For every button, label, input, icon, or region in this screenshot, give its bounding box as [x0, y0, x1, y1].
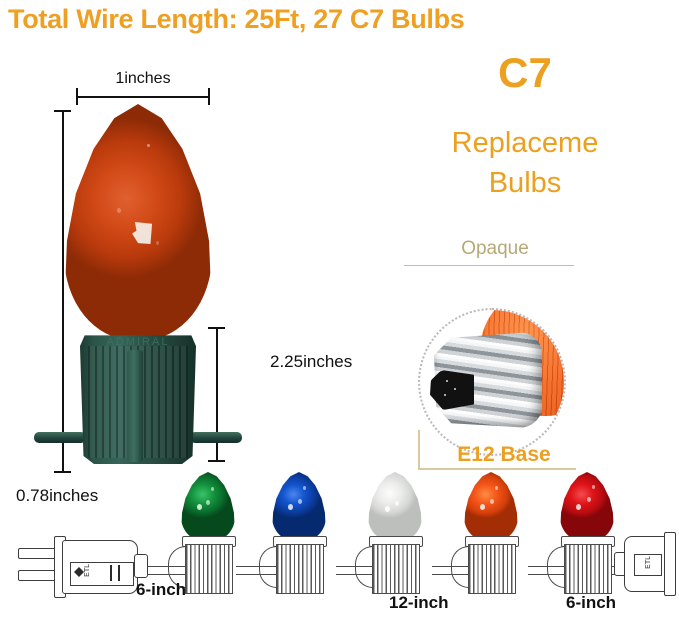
- strand-wire-loop: [547, 546, 566, 588]
- strand-socket-barrel: [276, 544, 324, 594]
- strand-socket: [468, 536, 514, 592]
- socket-height-dimension-label: 2.25inches: [270, 352, 352, 372]
- width-dimension-cap-right: [208, 88, 210, 105]
- strand-socket: [276, 536, 322, 592]
- strand-bulb-orange: [464, 472, 518, 542]
- strand-bulb-highlight: [490, 499, 494, 504]
- width-dimension-line: [76, 96, 210, 98]
- e12-base-label: E12 Base: [430, 443, 578, 467]
- width-dimension-cap-left: [76, 88, 78, 105]
- strand-socket: [564, 536, 610, 592]
- strand-socket-barrel: [564, 544, 612, 594]
- strand-socket: [372, 536, 418, 592]
- strand-bulb-white: [368, 472, 422, 542]
- e12-base-callout-circle: [418, 308, 566, 456]
- strand-bulb-green: [181, 472, 235, 542]
- hero-bulb-glass: [64, 104, 212, 340]
- strand-socket-barrel: [468, 544, 516, 594]
- plug-label-bar: [118, 565, 120, 581]
- plug-label-bar: [110, 565, 112, 581]
- hero-socket-wire-left: [34, 432, 86, 443]
- hero-socket-wire-right: [190, 432, 242, 443]
- hero-socket-brand-text: ADMIRAL: [80, 336, 196, 348]
- strand-bulb-blue: [272, 472, 326, 542]
- end-connector-certification-text: ETL: [645, 556, 652, 569]
- strand-bulb-highlight: [298, 499, 302, 504]
- spacing-label-middle: 12-inch: [389, 593, 449, 613]
- strand-wire-loop: [451, 546, 470, 588]
- end-connector[interactable]: ETL: [614, 532, 676, 594]
- hero-bulb-speck: [156, 241, 159, 245]
- page-title: Total Wire Length: 25Ft, 27 C7 Bulbs: [8, 4, 676, 35]
- strand-bulb-highlight: [206, 500, 210, 505]
- width-dimension-label: 1inches: [40, 70, 246, 88]
- strand-socket: [185, 536, 231, 592]
- replacement-heading-line1: Replaceme: [380, 128, 670, 160]
- strand-bulb-red: [560, 472, 614, 542]
- plug-strain-relief: [134, 554, 148, 578]
- finish-label: Opaque: [390, 238, 600, 260]
- product-code-heading: C7: [380, 52, 670, 94]
- hero-socket-center-tab: [127, 350, 143, 462]
- hero-bulb-glass-body: [64, 104, 212, 340]
- strand-socket-barrel: [372, 544, 420, 594]
- strand-socket-barrel: [185, 544, 233, 594]
- replacement-heading-line2: Bulbs: [380, 168, 670, 200]
- socket-height-dimension-cap-bottom: [208, 460, 225, 462]
- spacing-label-last: 6-inch: [566, 593, 616, 613]
- string-light-strand: ETL ETL 6-inch 12-inch 6-inch: [0, 470, 679, 626]
- hero-bulb-socket: ADMIRAL: [80, 330, 196, 464]
- strand-bulb-glass: [181, 472, 235, 542]
- strand-bulb-glass: [272, 472, 326, 542]
- plug-certification-text: ETL: [84, 564, 91, 577]
- finish-underline: [404, 265, 574, 266]
- strand-bulb-glass: [560, 472, 614, 542]
- end-connector-cap: [664, 532, 676, 596]
- base-tip-speck: [454, 388, 456, 390]
- strand-wire-loop: [355, 546, 374, 588]
- strand-wire-loop: [259, 546, 278, 588]
- base-tip-speck: [444, 394, 446, 396]
- strand-bulb-highlight: [385, 506, 390, 512]
- spacing-label-first: 6-inch: [136, 580, 186, 600]
- strand-bulb-glass: [368, 472, 422, 542]
- hero-bulb-speck: [147, 144, 150, 147]
- power-plug[interactable]: ETL: [18, 536, 136, 596]
- base-tip-speck: [446, 380, 448, 382]
- strand-bulb-glass: [464, 472, 518, 542]
- e12-bracket-vertical: [418, 430, 420, 470]
